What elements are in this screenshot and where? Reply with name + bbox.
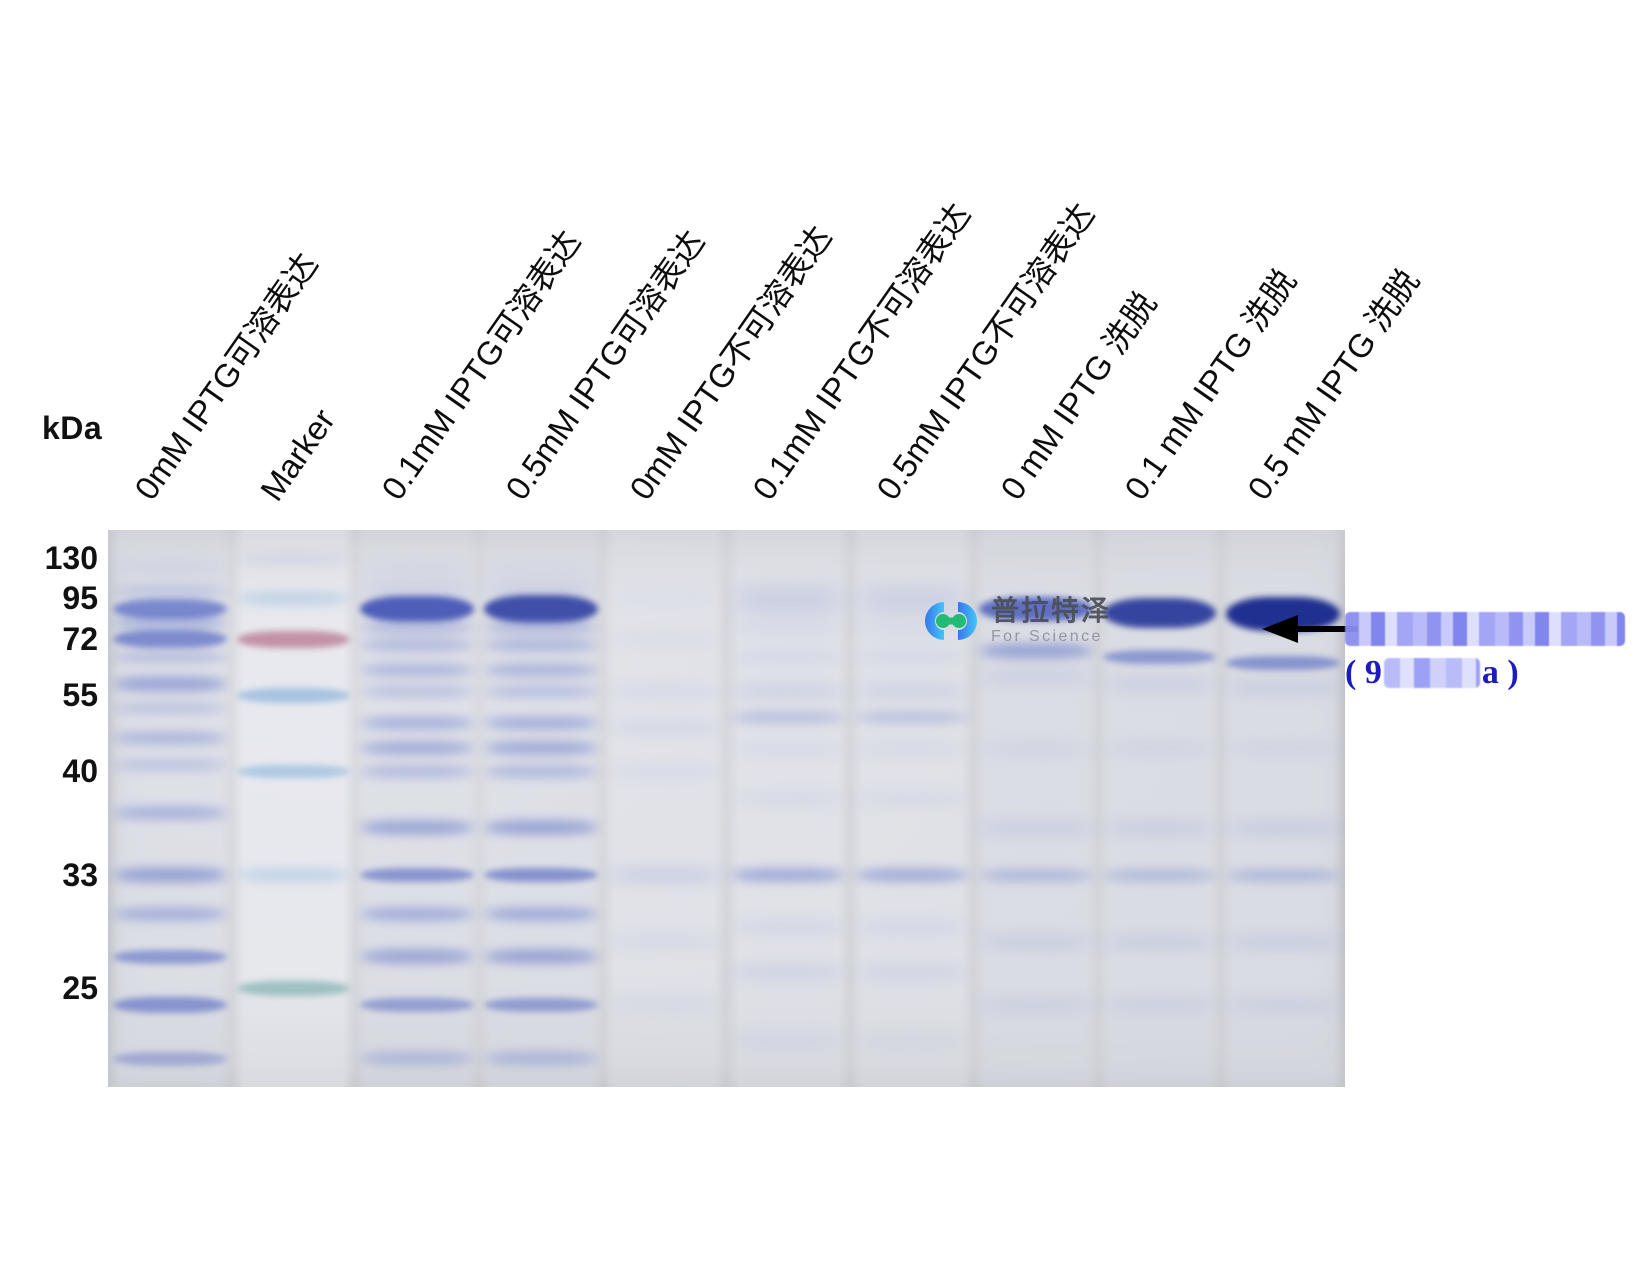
gel-band xyxy=(484,766,598,777)
gel-band xyxy=(360,717,474,729)
gel-band xyxy=(360,596,474,622)
watermark-brand-cn: 普拉特泽 xyxy=(991,597,1111,625)
gel-band xyxy=(484,686,598,697)
gel-band xyxy=(1103,598,1217,628)
gel-band xyxy=(113,703,227,713)
annotation-redacted-mw xyxy=(1384,658,1480,688)
ladder-tick-72: 72 xyxy=(62,623,98,655)
gel-band xyxy=(237,553,351,564)
watermark-brand-en: For Science xyxy=(991,629,1111,645)
gel-band xyxy=(855,1036,969,1045)
gel-band xyxy=(731,923,845,932)
gel-band xyxy=(360,664,474,676)
gel-band xyxy=(1103,937,1217,947)
annotation-mw-suffix: a ) xyxy=(1482,654,1519,692)
gel-band xyxy=(731,652,845,662)
gel-band xyxy=(1226,870,1340,881)
gel-band xyxy=(360,566,474,575)
gel-lane-3 xyxy=(355,530,479,1087)
gel-band xyxy=(360,998,474,1012)
gel-band xyxy=(237,592,351,605)
gel-band xyxy=(855,652,969,662)
gel-band xyxy=(484,821,598,834)
gel-band xyxy=(237,869,351,881)
lane-label-2: Marker xyxy=(253,402,343,508)
gel-lane-2 xyxy=(232,530,356,1087)
gel-band xyxy=(484,998,598,1012)
gel-band xyxy=(731,586,845,597)
gel-band xyxy=(979,644,1093,658)
gel-band xyxy=(237,688,351,703)
gel-lane-9 xyxy=(1098,530,1222,1087)
gel-band xyxy=(484,639,598,651)
gel-band xyxy=(484,566,598,575)
gel-band xyxy=(1226,744,1340,753)
target-band-arrow-icon xyxy=(1262,614,1358,644)
gel-lane-5 xyxy=(603,530,727,1087)
gel-band xyxy=(608,1000,722,1009)
gel-band xyxy=(1226,683,1340,693)
brand-logo-icon xyxy=(920,598,982,644)
gel-band xyxy=(855,794,969,803)
gel-band xyxy=(731,686,845,696)
gel-band xyxy=(484,717,598,729)
gel-band xyxy=(113,617,227,629)
gel-band xyxy=(360,950,474,963)
gel-lane-6 xyxy=(727,530,851,1087)
gel-band xyxy=(237,631,351,648)
gel-band xyxy=(855,712,969,723)
gel-lane-track xyxy=(727,530,851,1087)
gel-band xyxy=(484,742,598,754)
gel-band xyxy=(360,639,474,651)
gel-band xyxy=(484,595,598,623)
gel-band xyxy=(113,760,227,770)
gel-band xyxy=(113,563,227,573)
gel-band xyxy=(608,937,722,946)
gel-band xyxy=(855,869,969,881)
watermark: 普拉特泽 For Science xyxy=(920,597,1111,645)
lane-label-7: 0.5mM IPTG不可溶表达 xyxy=(863,192,1104,508)
gel-band xyxy=(360,908,474,920)
gel-lane-track xyxy=(232,530,356,1087)
gel-band xyxy=(113,652,227,662)
gel-band xyxy=(484,1052,598,1065)
gel-band xyxy=(113,997,227,1013)
gel-band xyxy=(1103,744,1217,753)
gel-band xyxy=(113,807,227,819)
gel-band xyxy=(855,686,969,696)
gel-band xyxy=(113,599,227,619)
ladder-tick-40: 40 xyxy=(62,755,98,787)
gel-band xyxy=(731,869,845,881)
gel-band xyxy=(855,586,969,597)
gel-band xyxy=(113,677,227,691)
annotation-redacted-name xyxy=(1345,612,1625,646)
gel-lane-4 xyxy=(479,530,603,1087)
gel-band xyxy=(855,923,969,932)
gel-band xyxy=(484,908,598,920)
target-band-annotation: ( 9 a ) xyxy=(1345,612,1625,692)
gel-image xyxy=(108,530,1345,1087)
gel-band xyxy=(1226,656,1340,670)
molecular-weight-ladder: 130957255403325 xyxy=(0,0,100,1266)
gel-band xyxy=(608,594,722,603)
gel-band xyxy=(1226,937,1340,947)
gel-band xyxy=(1103,823,1217,833)
gel-band xyxy=(360,766,474,777)
annotation-mw-prefix: ( 9 xyxy=(1345,654,1382,692)
gel-band xyxy=(855,744,969,753)
gel-band xyxy=(979,672,1093,682)
lane-label-group: 0mM IPTG可溶表达Marker0.1mM IPTG可溶表达0.5mM IP… xyxy=(0,0,1644,530)
gel-band xyxy=(731,1036,845,1045)
ladder-tick-55: 55 xyxy=(62,679,98,711)
gel-band xyxy=(731,744,845,753)
gel-band xyxy=(113,868,227,882)
gel-band xyxy=(1226,823,1340,833)
gel-band xyxy=(360,742,474,754)
gel-band xyxy=(360,1052,474,1065)
gel-band xyxy=(1103,870,1217,881)
gel-band xyxy=(731,794,845,803)
gel-band xyxy=(237,765,351,778)
annotation-molecular-weight: ( 9 a ) xyxy=(1345,654,1625,692)
gel-band xyxy=(484,868,598,882)
gel-band xyxy=(360,686,474,697)
gel-band xyxy=(113,585,227,597)
ladder-tick-33: 33 xyxy=(62,859,98,891)
gel-band xyxy=(113,732,227,744)
ladder-tick-25: 25 xyxy=(62,972,98,1004)
gel-band xyxy=(608,687,722,696)
gel-band xyxy=(1103,650,1217,664)
gel-band xyxy=(608,870,722,880)
gel-band xyxy=(113,1052,227,1066)
gel-band xyxy=(731,622,845,632)
gel-band xyxy=(113,950,227,964)
gel-band xyxy=(1103,1000,1217,1010)
gel-band xyxy=(608,767,722,776)
gel-band xyxy=(979,870,1093,881)
gel-band xyxy=(113,630,227,648)
gel-band xyxy=(855,967,969,977)
gel-band xyxy=(113,908,227,920)
gel-band xyxy=(360,621,474,633)
gel-band xyxy=(360,868,474,882)
gel-band xyxy=(979,823,1093,833)
gel-band xyxy=(1226,1000,1340,1010)
gel-band xyxy=(731,712,845,723)
gel-band xyxy=(608,635,722,644)
ladder-tick-130: 130 xyxy=(45,542,98,574)
gel-band xyxy=(731,600,845,611)
gel-band xyxy=(360,821,474,834)
gel-band xyxy=(979,937,1093,947)
gel-band xyxy=(731,967,845,977)
gel-band xyxy=(484,664,598,676)
lane-label-6: 0.1mM IPTG不可溶表达 xyxy=(739,192,980,508)
gel-band xyxy=(484,621,598,633)
gel-band xyxy=(1103,679,1217,689)
ladder-tick-95: 95 xyxy=(62,582,98,614)
gel-lane-1 xyxy=(108,530,232,1087)
gel-band xyxy=(608,723,722,732)
gel-band xyxy=(484,950,598,963)
gel-band xyxy=(237,981,351,996)
gel-band xyxy=(979,1000,1093,1010)
gel-band xyxy=(979,744,1093,753)
gel-band xyxy=(360,586,474,597)
